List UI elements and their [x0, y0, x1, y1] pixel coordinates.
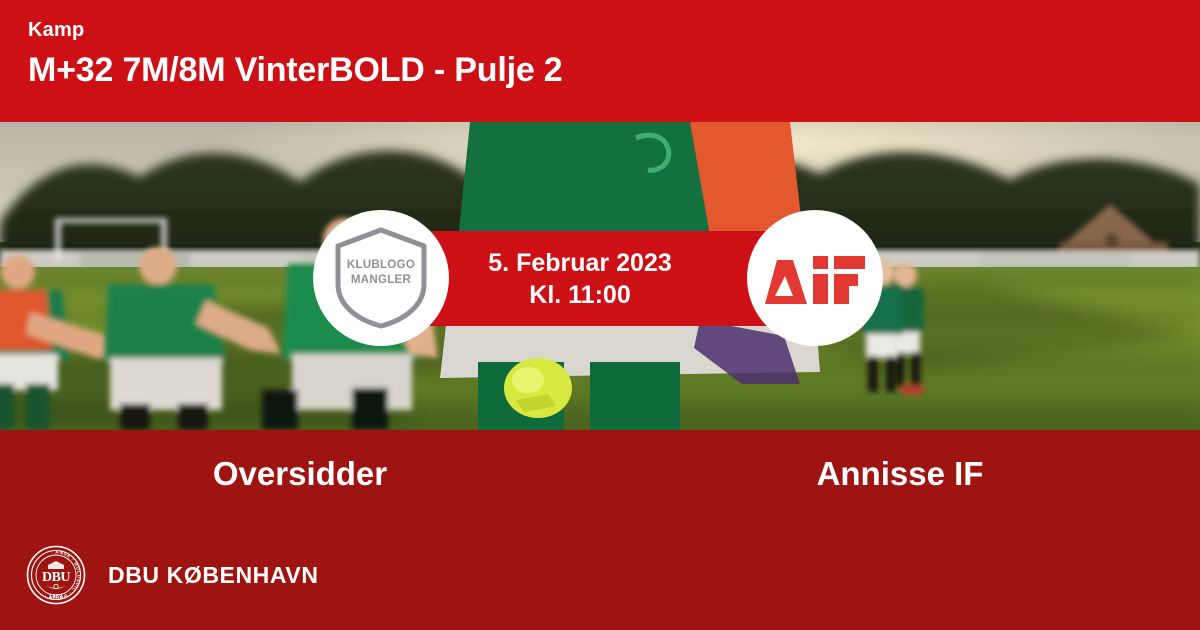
svg-text:· 1889 ·: · 1889 · [45, 594, 67, 600]
away-club-logo [747, 210, 883, 346]
footer-organisation: DBU KØBENHAVN [108, 562, 319, 589]
svg-text:DBU: DBU [42, 570, 70, 585]
home-club-logo: KLUBLOGO MANGLER [313, 210, 449, 346]
klublogo-mangler-placeholder: KLUBLOGO MANGLER [332, 226, 430, 330]
match-poster: Kamp M+32 7M/8M VinterBOLD - Pulje 2 [0, 0, 1200, 630]
dbu-crest-icon: DANSK · BOLDSPIL · UNION DBU · 1889 · [26, 545, 86, 605]
away-team-name: Annisse IF [600, 452, 1200, 496]
header-kicker: Kamp [28, 18, 1200, 42]
poster-footer: DANSK · BOLDSPIL · UNION DBU · 1889 · DB… [0, 520, 1200, 630]
placeholder-line-2: MANGLER [332, 273, 430, 288]
match-time: Kl. 11:00 [529, 279, 630, 311]
home-team-name: Oversidder [0, 452, 600, 496]
page-title: M+32 7M/8M VinterBOLD - Pulje 2 [28, 48, 1200, 92]
match-date: 5. Februar 2023 [488, 247, 671, 279]
aif-logo-icon [763, 250, 867, 306]
poster-header: Kamp M+32 7M/8M VinterBOLD - Pulje 2 [0, 0, 1200, 122]
team-names-band: Oversidder Annisse IF [0, 430, 1200, 520]
placeholder-line-1: KLUBLOGO [332, 258, 430, 273]
